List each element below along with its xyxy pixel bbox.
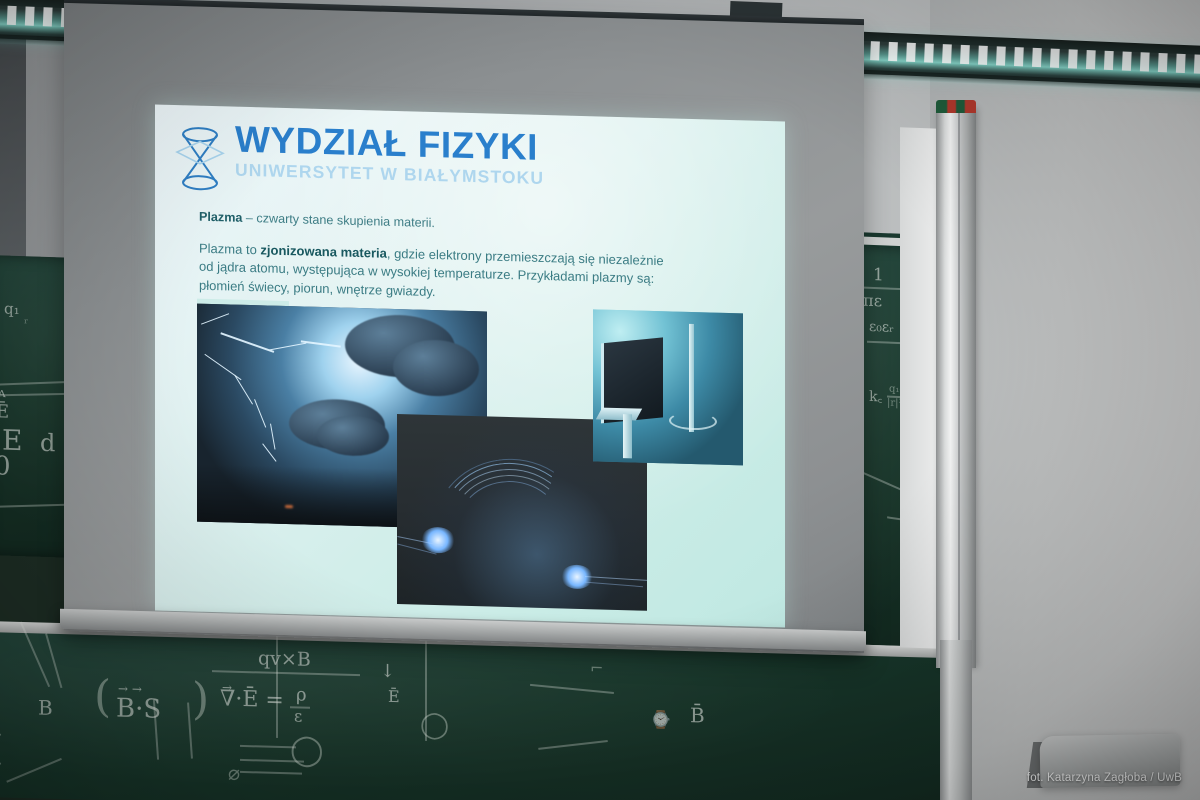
- presentation-slide: WYDZIAŁ FIZYKI UNIWERSYTET W BIAŁYMSTOKU…: [155, 104, 785, 627]
- wall-rail-lower: [940, 640, 972, 800]
- term-plazma: Plazma: [199, 210, 242, 225]
- double-cone-hourglass-logo: [175, 125, 225, 192]
- plasma-device-photo: [593, 309, 743, 465]
- brand-title: WYDZIAŁ FIZYKI: [235, 121, 544, 166]
- slide-image-collage: [197, 299, 743, 614]
- heading-dash: –: [242, 211, 256, 225]
- paragraph-lead: Plazma to: [199, 241, 260, 258]
- wall-rail-track[interactable]: [936, 108, 976, 668]
- slide-paragraph: Plazma to zjonizowana materia, gdzie ele…: [199, 240, 669, 308]
- whiteboard-edge: [900, 127, 940, 649]
- device-stem: [623, 414, 632, 458]
- blackboard-bottom: B ( → → B·S ( ) qv×B → ∇·Ē = ρ ε ◯ ↓ Ē ⌀…: [0, 632, 940, 800]
- slide-body-text: Plazma – czwarty stane skupienia materii…: [199, 209, 669, 308]
- paragraph-emphasis: zjonizowana materia: [260, 242, 386, 260]
- heading-definition: czwarty stane skupienia materii.: [256, 211, 434, 230]
- rail-top-cap: [936, 100, 976, 113]
- photo-credit-watermark: fot. Katarzyna Zagłoba / UwB: [1027, 772, 1182, 784]
- slide-heading-line: Plazma – czwarty stane skupienia materii…: [199, 209, 669, 239]
- device-arm: [596, 408, 642, 421]
- brand-text-block: WYDZIAŁ FIZYKI UNIWERSYTET W BIAŁYMSTOKU: [235, 121, 544, 189]
- lecture-hall-scene: q₁ q₁ q₂ ᵣ →q ᴬ Ē E d 0 1 4πε ε₀εᵣ = k꜀ …: [0, 0, 1200, 800]
- slide-brand-header: WYDZIAŁ FIZYKI UNIWERSYTET W BIAŁYMSTOKU: [175, 119, 544, 201]
- device-base: [669, 411, 717, 430]
